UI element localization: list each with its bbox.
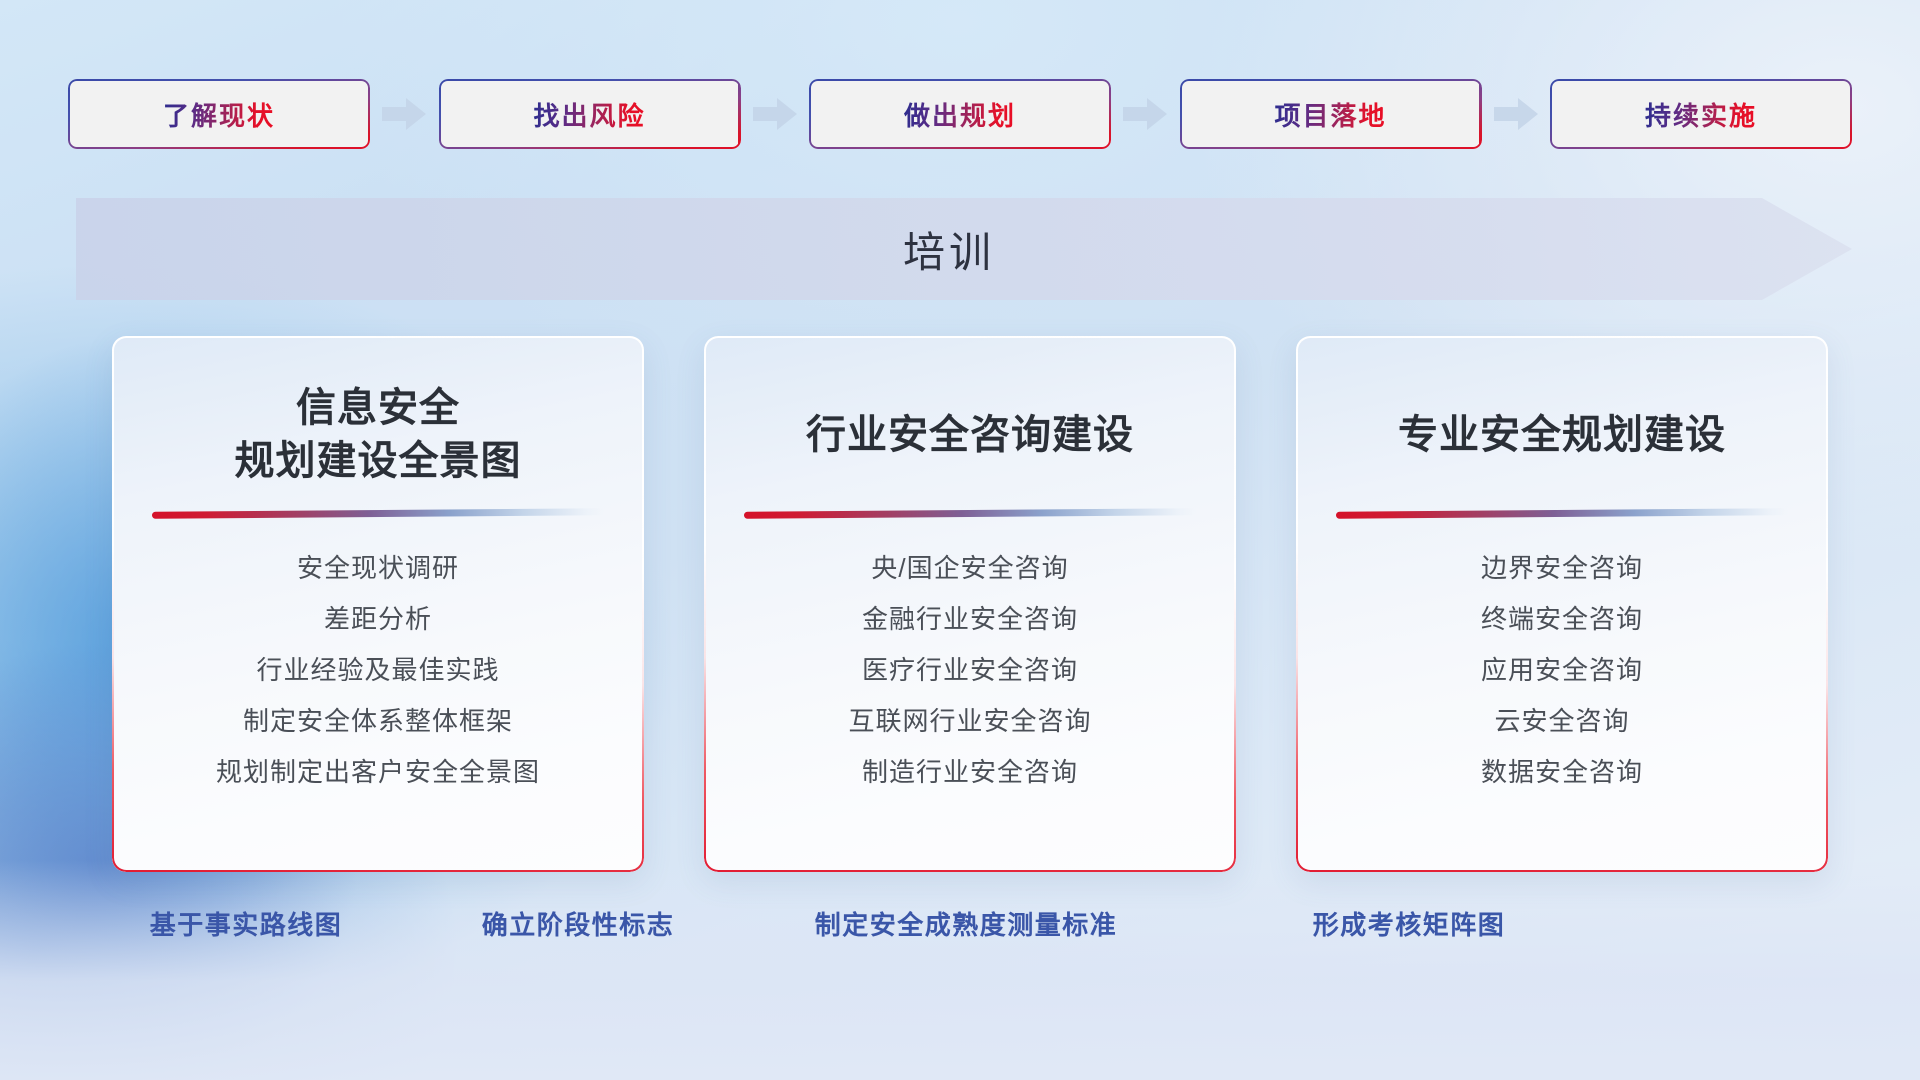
chevron-right-icon bbox=[753, 96, 797, 132]
card-item: 医疗行业安全咨询 bbox=[862, 653, 1078, 688]
card-title: 信息安全 规划建设全景图 bbox=[142, 382, 614, 488]
card-divider bbox=[1336, 508, 1788, 519]
card-item: 边界安全咨询 bbox=[1481, 551, 1643, 586]
chevron-right-icon bbox=[1494, 96, 1538, 132]
process-step-label: 项目落地 bbox=[1274, 96, 1386, 133]
card-item: 央/国企安全咨询 bbox=[871, 551, 1068, 586]
card-item: 制造行业安全咨询 bbox=[862, 755, 1078, 790]
process-step-2[interactable]: 找出风险 bbox=[439, 79, 741, 149]
service-card-1[interactable]: 信息安全 规划建设全景图安全现状调研差距分析行业经验及最佳实践制定安全体系整体框… bbox=[112, 336, 644, 872]
banner-label: 培训 bbox=[76, 198, 1852, 300]
slide-stage: 了解现状找出风险做出规划项目落地持续实施 培训 信息安全 规划建设全景图安全现状… bbox=[0, 0, 1920, 1080]
footer-label-2: 确立阶段性标志 bbox=[482, 905, 675, 942]
card-divider bbox=[152, 508, 604, 519]
card-item: 规划制定出客户安全全景图 bbox=[216, 755, 540, 790]
card-item: 应用安全咨询 bbox=[1481, 653, 1643, 688]
card-item: 终端安全咨询 bbox=[1481, 602, 1643, 637]
process-steps-row: 了解现状找出风险做出规划项目落地持续实施 bbox=[68, 78, 1852, 150]
card-item: 行业经验及最佳实践 bbox=[256, 653, 499, 688]
step-arrow-3 bbox=[1111, 91, 1180, 137]
chevron-right-icon bbox=[382, 96, 426, 132]
card-item: 制定安全体系整体框架 bbox=[243, 704, 513, 739]
card-item: 互联网行业安全咨询 bbox=[848, 704, 1091, 739]
card-items-list: 安全现状调研差距分析行业经验及最佳实践制定安全体系整体框架规划制定出客户安全全景… bbox=[142, 551, 614, 790]
card-items-list: 边界安全咨询终端安全咨询应用安全咨询云安全咨询数据安全咨询 bbox=[1326, 551, 1798, 790]
process-step-4[interactable]: 项目落地 bbox=[1180, 79, 1482, 149]
process-step-label: 持续实施 bbox=[1645, 96, 1757, 133]
step-arrow-1 bbox=[370, 91, 439, 137]
process-step-1[interactable]: 了解现状 bbox=[68, 79, 370, 149]
chevron-right-icon bbox=[1123, 96, 1167, 132]
card-items-list: 央/国企安全咨询金融行业安全咨询医疗行业安全咨询互联网行业安全咨询制造行业安全咨… bbox=[734, 551, 1206, 790]
service-card-3[interactable]: 专业安全规划建设边界安全咨询终端安全咨询应用安全咨询云安全咨询数据安全咨询 bbox=[1296, 336, 1828, 872]
service-card-2[interactable]: 行业安全咨询建设央/国企安全咨询金融行业安全咨询医疗行业安全咨询互联网行业安全咨… bbox=[704, 336, 1236, 872]
process-step-5[interactable]: 持续实施 bbox=[1550, 79, 1852, 149]
card-title: 行业安全咨询建设 bbox=[734, 382, 1206, 488]
footer-label-4: 形成考核矩阵图 bbox=[1313, 905, 1506, 942]
card-item: 金融行业安全咨询 bbox=[862, 602, 1078, 637]
card-title: 专业安全规划建设 bbox=[1326, 382, 1798, 488]
footer-labels-row: 基于事实路线图确立阶段性标志制定安全成熟度测量标准形成考核矩阵图 bbox=[0, 905, 1920, 965]
step-arrow-2 bbox=[741, 91, 810, 137]
card-item: 云安全咨询 bbox=[1494, 704, 1629, 739]
card-item: 差距分析 bbox=[324, 602, 432, 637]
card-item: 安全现状调研 bbox=[297, 551, 459, 586]
process-step-label: 了解现状 bbox=[163, 96, 275, 133]
step-arrow-4 bbox=[1482, 91, 1551, 137]
process-step-label: 做出规划 bbox=[904, 96, 1016, 133]
card-divider bbox=[744, 508, 1196, 519]
process-step-label: 找出风险 bbox=[533, 96, 645, 133]
process-step-3[interactable]: 做出规划 bbox=[809, 79, 1111, 149]
card-item: 数据安全咨询 bbox=[1481, 755, 1643, 790]
training-banner: 培训 bbox=[76, 198, 1852, 300]
footer-label-1: 基于事实路线图 bbox=[150, 905, 343, 942]
cards-row: 信息安全 规划建设全景图安全现状调研差距分析行业经验及最佳实践制定安全体系整体框… bbox=[112, 336, 1828, 872]
footer-label-3: 制定安全成熟度测量标准 bbox=[815, 905, 1118, 942]
